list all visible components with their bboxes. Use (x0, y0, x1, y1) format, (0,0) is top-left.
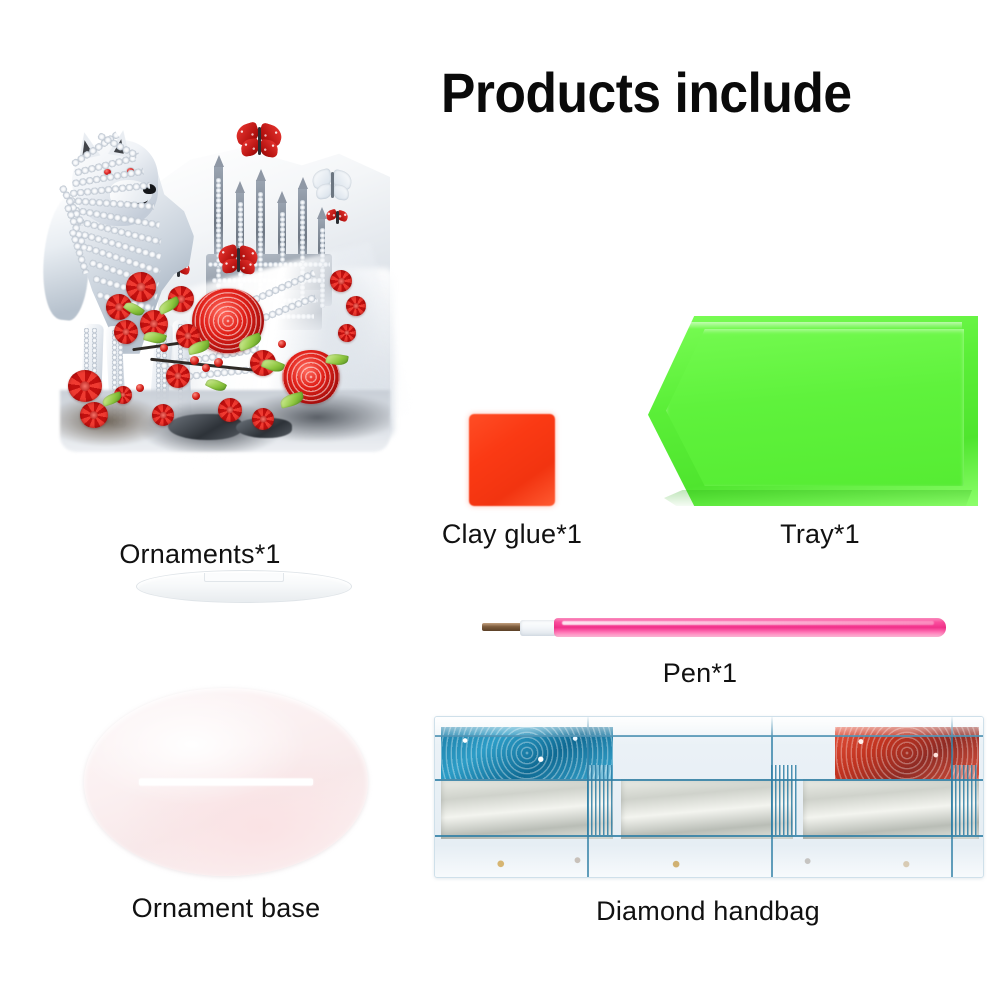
wolf-eye (127, 168, 134, 174)
ornament-base-icon (84, 688, 368, 876)
flower-daisy (252, 408, 274, 430)
page-title: Products include (441, 62, 956, 124)
wolf-nose-icon (143, 184, 156, 194)
ornament-base-slot (139, 779, 313, 786)
pen-label: Pen*1 (610, 658, 790, 689)
flower-berry (190, 356, 199, 365)
clay-glue-label: Clay glue*1 (392, 519, 632, 550)
wolf-rose-acrylic-standee-icon (40, 118, 400, 458)
ornament-base-label: Ornament base (66, 893, 386, 924)
product-contents-infographic: Products include (0, 0, 1001, 1001)
flower-daisy (338, 324, 356, 342)
butterfly-white-icon (312, 170, 352, 202)
pouch-seam (435, 779, 983, 781)
pen-icon (478, 612, 948, 642)
ornaments-product-figure (40, 118, 440, 508)
flower-daisy (166, 364, 190, 388)
flower-berry (160, 344, 168, 352)
flower-daisy (218, 398, 242, 422)
flower-daisy (126, 272, 156, 302)
clay-glue-icon (469, 414, 555, 506)
diamond-handbag-icon (434, 716, 984, 878)
tray-icon (648, 316, 978, 506)
flower-daisy (152, 404, 174, 426)
flower-berry (214, 358, 223, 367)
flower-daisy (68, 370, 102, 402)
pouch-seam (435, 835, 983, 837)
flower-berry (192, 392, 200, 400)
wolf-mouth (126, 194, 148, 205)
flower-daisy (330, 270, 352, 292)
flower-daisy (346, 296, 366, 316)
tray-label: Tray*1 (700, 519, 940, 550)
flower-daisy (114, 320, 138, 344)
pen-tip (482, 623, 524, 631)
diamond-handbag-label: Diamond handbag (540, 896, 876, 927)
loose-rhinestones (435, 853, 983, 871)
butterfly-red-top-icon (236, 124, 282, 160)
handbag-compartment (621, 727, 793, 851)
pouch-ridges (771, 765, 797, 835)
wolf-eye (104, 169, 111, 175)
flower-berry (136, 384, 144, 392)
ornament-acrylic-stand (136, 570, 352, 612)
flower-berry (202, 364, 210, 372)
pouch-ridges (587, 765, 613, 835)
pen-highlight (562, 621, 934, 625)
butterfly-red-right-icon (326, 210, 348, 227)
flower-berry (278, 340, 286, 348)
butterfly-red-mid-icon (218, 246, 258, 276)
pouch-seam (435, 735, 983, 737)
ornaments-label: Ornaments*1 (0, 539, 400, 570)
pouch-ridges (951, 765, 977, 835)
foil-strip (621, 779, 793, 839)
